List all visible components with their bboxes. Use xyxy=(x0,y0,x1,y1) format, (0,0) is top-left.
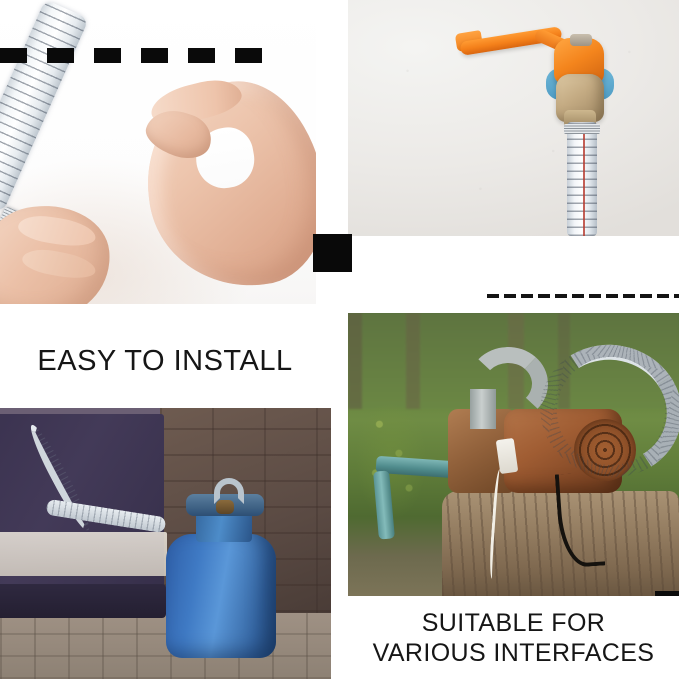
black-square-block xyxy=(313,234,352,272)
grill-base xyxy=(0,584,166,618)
product-collage: EASY TO INSTALL xyxy=(0,0,679,679)
caption-line-1: SUITABLE FOR xyxy=(422,609,606,639)
panel-orange-ball-valve xyxy=(348,0,679,236)
panel-gas-cylinder-and-grill xyxy=(0,408,331,679)
blue-gas-cylinder xyxy=(166,534,276,658)
panel-hands-installing-hose xyxy=(0,0,316,304)
valve-attached-hose xyxy=(567,122,597,236)
dashed-rule-thin-icon xyxy=(487,294,679,298)
valve-hose-clamp xyxy=(564,124,600,134)
caption-suitable-for-various-interfaces: SUITABLE FOR VARIOUS INTERFACES xyxy=(348,598,679,679)
caption-easy-to-install: EASY TO INSTALL xyxy=(0,318,330,404)
dashed-rule-thick-icon xyxy=(0,48,280,63)
panel-water-pump-on-stump xyxy=(348,313,679,596)
hose-red-stripe xyxy=(583,124,585,236)
valve-top-nut xyxy=(570,34,592,46)
grill-shelf xyxy=(0,532,167,576)
gas-cylinder-handle xyxy=(214,478,244,504)
caption-line-2: VARIOUS INTERFACES xyxy=(373,639,655,669)
black-bar-accent xyxy=(655,591,679,596)
